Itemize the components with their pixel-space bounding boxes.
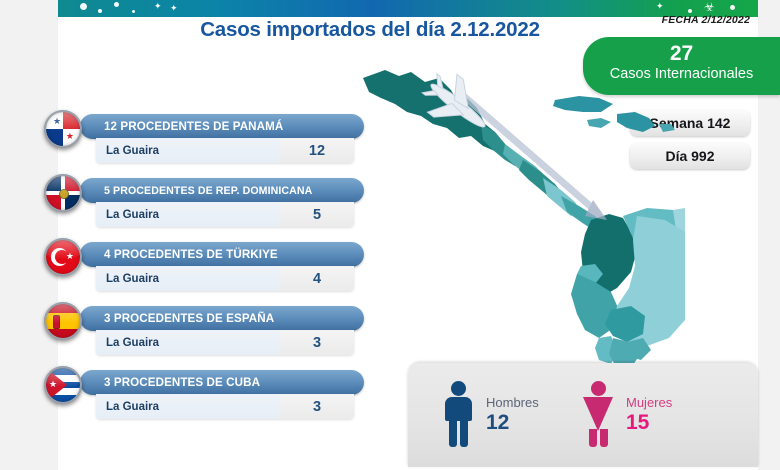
country-detail-row: La Guaira 3 [96, 330, 354, 355]
women-count: 15 [626, 410, 672, 436]
men-count: 12 [486, 410, 539, 436]
map-region-hispaniola [617, 112, 655, 132]
port-count: 4 [313, 271, 321, 287]
country-row[interactable]: 5 PROCEDENTES DE REP. DOMINICANA La Guai… [44, 174, 364, 238]
latin-america-map [355, 20, 685, 365]
port-label: La Guaira [106, 337, 159, 349]
port-label: La Guaira [106, 209, 159, 221]
map-region-jamaica [587, 118, 611, 128]
panama-flag-icon: ★ ★ [44, 110, 82, 148]
female-pictogram-icon [582, 381, 616, 447]
virus-icon: ✦ [170, 4, 178, 13]
turkiye-flag-icon: ★ [44, 238, 82, 276]
port-label: La Guaira [106, 401, 159, 413]
country-list: ★ ★ 12 PROCEDENTES DE PANAMÁ La Guaira 1… [44, 110, 364, 430]
gender-item-men: Hombres 12 [442, 381, 539, 447]
decorative-gradient-strip: ✦ ✦ ✦ ☣ [58, 0, 758, 17]
port-count: 3 [313, 399, 321, 415]
country-row[interactable]: ★ ★ 12 PROCEDENTES DE PANAMÁ La Guaira 1… [44, 110, 364, 174]
men-label: Hombres [486, 395, 539, 410]
infographic-canvas: ✦ ✦ ✦ ☣ Casos importados del día 2.12.20… [0, 0, 780, 470]
port-count: 3 [313, 335, 321, 351]
port-label: La Guaira [106, 273, 159, 285]
spain-flag-icon [44, 302, 82, 340]
port-label: La Guaira [106, 145, 159, 157]
country-header-label: 5 PROCEDENTES DE REP. DOMINICANA [80, 178, 364, 203]
gender-summary-panel: Hombres 12 Mujeres 15 [408, 363, 758, 467]
country-row[interactable]: 3 PROCEDENTES DE ESPAÑA La Guaira 3 [44, 302, 364, 366]
male-pictogram-icon [442, 381, 476, 447]
map-region-puerto-rico [659, 124, 675, 132]
virus-icon: ✦ [154, 2, 162, 11]
country-detail-row: La Guaira 4 [96, 266, 354, 291]
country-header-label: 12 PROCEDENTES DE PANAMÁ [80, 114, 364, 139]
cuba-flag-icon: ★ [44, 366, 82, 404]
country-header-label: 4 PROCEDENTES DE TÜRKIYE [80, 242, 364, 267]
women-label: Mujeres [626, 395, 672, 410]
port-count: 5 [313, 207, 321, 223]
port-count: 12 [309, 143, 325, 159]
gender-item-women: Mujeres 15 [582, 381, 672, 447]
map-region-cuba [553, 96, 613, 112]
country-header-label: 3 PROCEDENTES DE CUBA [80, 370, 364, 395]
country-header-label: 3 PROCEDENTES DE ESPAÑA [80, 306, 364, 331]
country-row[interactable]: ★ 4 PROCEDENTES DE TÜRKIYE La Guaira 4 [44, 238, 364, 302]
dominican-republic-flag-icon [44, 174, 82, 212]
country-row[interactable]: ★ 3 PROCEDENTES DE CUBA La Guaira 3 [44, 366, 364, 430]
virus-icon: ✦ [656, 2, 664, 11]
country-detail-row: La Guaira 5 [96, 202, 354, 227]
country-detail-row: La Guaira 12 [96, 138, 354, 163]
virus-icon: ☣ [704, 3, 715, 12]
country-detail-row: La Guaira 3 [96, 394, 354, 419]
